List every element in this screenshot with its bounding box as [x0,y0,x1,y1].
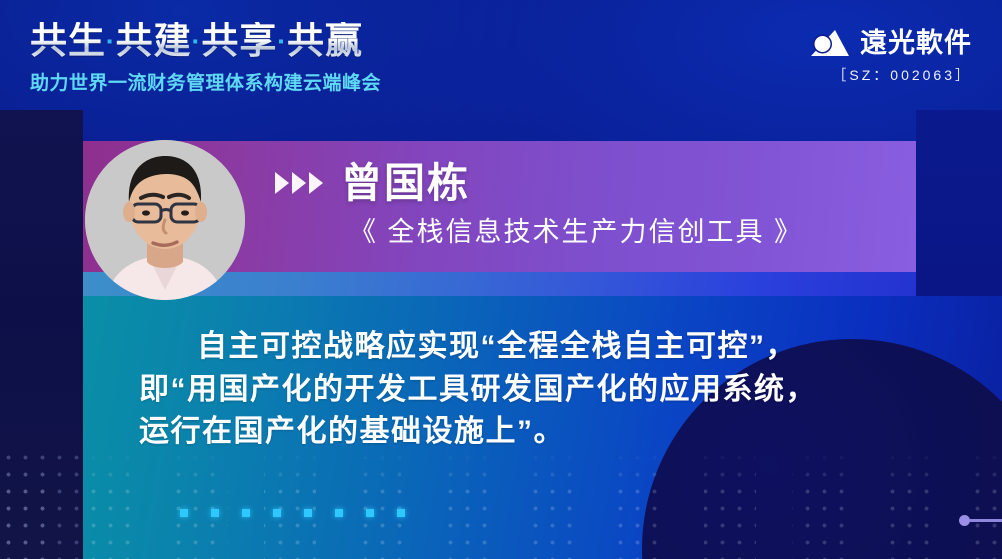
title-separator-dot-icon: · [106,26,116,56]
corner-pin-line [970,519,1002,522]
event-title-part: 共享 [201,20,277,61]
yuanguang-triangle-logo-icon [809,28,851,58]
speaker-name: 曾国栋 [341,163,470,204]
event-title-part: 共建 [116,20,192,61]
brand-name: 遠光軟件 [860,30,972,57]
event-title-part: 共生 [30,20,106,61]
presentation-slide: 共生·共建·共享·共赢 助力世界一流财务管理体系构建云端峰会 遠光軟件 ［SZ：… [0,0,1002,559]
title-separator-dot-icon: · [192,26,202,56]
event-subtitle: 助力世界一流财务管理体系构建云端峰会 [30,68,381,95]
stock-code: ［SZ：002063］ [809,65,972,85]
triple-chevron-right-icon [275,172,323,194]
event-title: 共生·共建·共享·共赢 [30,22,363,59]
event-title-part: 共赢 [287,20,363,61]
brand-block: 遠光軟件 ［SZ：002063］ [809,28,972,85]
corner-pin-decoration [959,515,1002,526]
avatar [85,140,245,300]
brand-row: 遠光軟件 [809,28,972,58]
background-left-dark-column [0,110,83,559]
slide-header: 共生·共建·共享·共赢 助力世界一流财务管理体系构建云端峰会 遠光軟件 ［SZ：… [0,0,1002,110]
corner-pin-dot-icon [959,515,970,526]
quote-text: 自主可控战略应实现“全程全栈自主可控”，即“用国产化的开发工具研发国产化的应用系… [139,326,839,454]
speaker-topic: 《 全栈信息技术生产力信创工具 》 [349,219,803,246]
title-separator-dot-icon: · [277,26,287,56]
